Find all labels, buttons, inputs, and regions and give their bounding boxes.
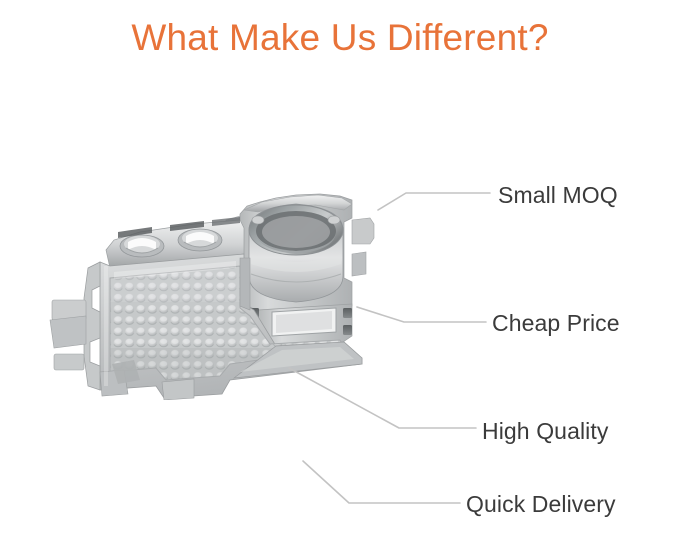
- left-mounting-tab-lower: [50, 316, 86, 348]
- left-flange: [84, 262, 100, 390]
- bolt-boss-left: [252, 216, 264, 224]
- leader-line-small-moq: [378, 193, 490, 210]
- bore-block-right-lug: [352, 218, 374, 244]
- center-rib: [240, 258, 250, 310]
- callout-label-small-moq: Small MOQ: [498, 182, 618, 209]
- product-image: [44, 158, 389, 400]
- recessed-pocket-left: [120, 235, 164, 257]
- leader-line-quick-delivery: [303, 461, 460, 503]
- callout-label-cheap-price: Cheap Price: [492, 310, 620, 337]
- bolt-boss-right: [328, 216, 340, 224]
- page-title: What Make Us Different?: [0, 17, 680, 59]
- highlight-left-edge: [104, 266, 108, 386]
- product-illustration: [44, 158, 389, 400]
- tower-recess-right-upper: [343, 308, 352, 318]
- callout-label-quick-delivery: Quick Delivery: [466, 491, 616, 518]
- callout-label-high-quality: High Quality: [482, 418, 608, 445]
- left-mounting-tab-bottom: [54, 354, 84, 370]
- tower-recess-right-lower: [343, 325, 352, 335]
- bottom-foot-middle: [162, 379, 194, 400]
- infographic-page: What Make Us Different?: [0, 0, 680, 534]
- bore-block-right-lug-2: [352, 252, 366, 276]
- cylinder-bore-floor: [262, 216, 330, 248]
- recessed-pocket-right: [178, 229, 222, 251]
